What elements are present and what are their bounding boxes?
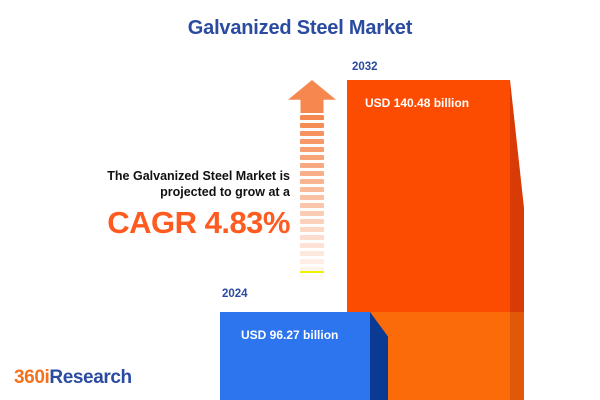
cagr-callout: The Galvanized Steel Market is projected… [40,168,290,242]
arrow-stripe [300,251,324,256]
arrow-head-shape [288,80,336,113]
arrow-stripe [300,147,324,152]
arrow-stripe [300,211,324,216]
bar-2024-value-label: USD 96.27 billion [241,328,338,342]
bar-2032-value-label: USD 140.48 billion [365,96,469,110]
arrow-stripe [300,259,324,264]
arrow-accent-line [300,271,324,273]
callout-line-1: The Galvanized Steel Market is [40,168,290,184]
arrow-stripe [300,203,324,208]
infographic-canvas: Galvanized Steel Market The Galvanized S… [0,0,600,400]
brand-logo-360i: 360i [14,367,49,388]
bar-2024-year-label: 2024 [222,288,248,300]
arrow-stripe [300,219,324,224]
arrow-stripe [300,227,324,232]
arrow-stripe [300,235,324,240]
arrow-stripe [300,243,324,248]
page-title: Galvanized Steel Market [0,17,600,40]
arrow-stripe [300,179,324,184]
arrow-stripe [300,131,324,136]
bar-2024 [220,312,370,400]
callout-line-2: projected to grow at a [40,184,290,200]
brand-logo-research: Research [49,367,131,388]
arrow-stripe [300,163,324,168]
bar-2032-lower-side [510,312,524,400]
bar-2032-year-label: 2032 [352,61,378,73]
arrow-stripe [300,283,324,288]
arrow-stripes [300,115,324,292]
arrow-stripe [300,187,324,192]
brand-logo[interactable]: 360iResearch [14,367,132,389]
arrow-stripe [300,115,324,120]
arrow-stripe [300,195,324,200]
arrow-stripe [300,275,324,280]
bar-2024-face [220,312,370,400]
arrow-stripe [300,123,324,128]
arrow-stripe [300,171,324,176]
up-arrow-icon [288,80,336,292]
cagr-value: CAGR 4.83% [40,204,290,242]
arrow-stripe [300,155,324,160]
arrow-stripe [300,139,324,144]
